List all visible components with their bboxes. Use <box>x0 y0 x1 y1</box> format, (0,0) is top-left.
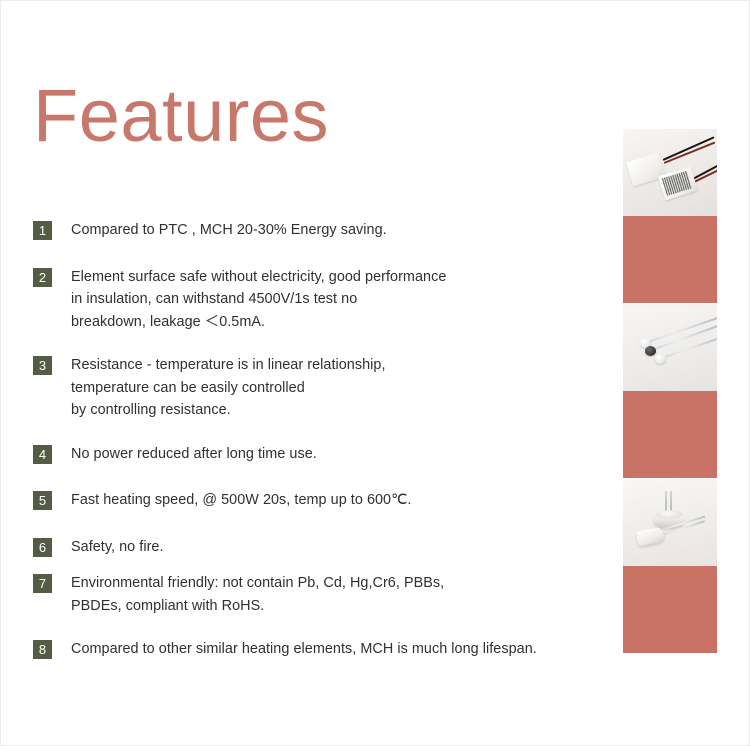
feature-text-6: Safety, no fire. <box>71 536 164 559</box>
feature-list: 1 Compared to PTC , MCH 20-30% Energy sa… <box>33 219 593 679</box>
ceramic-disc-top <box>656 510 682 519</box>
feature-item-4: 4 No power reduced after long time use. <box>33 443 593 466</box>
feature-text-7: Environmental friendly: not contain Pb, … <box>71 572 444 617</box>
strip-color-block-3 <box>623 566 717 653</box>
features-page: Features 1 Compared to PTC , MCH 20-30% … <box>0 0 750 746</box>
feature-badge-1: 1 <box>33 221 52 240</box>
feature-badge-2: 2 <box>33 268 52 287</box>
feature-badge-7: 7 <box>33 574 52 593</box>
ceramic-heating-elements-image <box>623 479 717 566</box>
feature-badge-4: 4 <box>33 445 52 464</box>
photo-backdrop <box>623 304 717 391</box>
feature-badge-6: 6 <box>33 538 52 557</box>
strip-photo-mch-heater-plates <box>623 129 717 216</box>
feature-badge-5: 5 <box>33 491 52 510</box>
feature-text-1: Compared to PTC , MCH 20-30% Energy savi… <box>71 219 387 242</box>
probe-head-dark <box>645 346 656 356</box>
feature-text-2: Element surface safe without electricity… <box>71 266 446 334</box>
mch-ceramic-heater-plates-image <box>623 129 717 216</box>
feature-badge-3: 3 <box>33 356 52 375</box>
feature-item-1: 1 Compared to PTC , MCH 20-30% Energy sa… <box>33 219 593 242</box>
feature-text-8: Compared to other similar heating elemen… <box>71 638 537 661</box>
feature-item-7: 7 Environmental friendly: not contain Pb… <box>33 572 593 617</box>
feature-item-6: 6 Safety, no fire. <box>33 536 593 559</box>
probe-head <box>655 354 666 364</box>
strip-photo-thermistor-probes <box>623 304 717 391</box>
product-image-strip <box>623 129 717 653</box>
strip-photo-ceramic-elements <box>623 479 717 566</box>
feature-item-3: 3 Resistance - temperature is in linear … <box>33 354 593 422</box>
accent-color-block <box>623 566 717 653</box>
feature-item-5: 5 Fast heating speed, @ 500W 20s, temp u… <box>33 489 593 512</box>
page-title: Features <box>33 73 329 159</box>
feature-text-3: Resistance - temperature is in linear re… <box>71 354 386 422</box>
heater-trace-grid <box>662 171 692 196</box>
feature-item-8: 8 Compared to other similar heating elem… <box>33 638 593 661</box>
strip-color-block-2 <box>623 391 717 478</box>
accent-color-block <box>623 391 717 478</box>
feature-item-2: 2 Element surface safe without electrici… <box>33 266 593 334</box>
feature-text-4: No power reduced after long time use. <box>71 443 317 466</box>
thermistor-probes-image <box>623 304 717 391</box>
feature-text-5: Fast heating speed, @ 500W 20s, temp up … <box>71 489 411 512</box>
strip-color-block-1 <box>623 216 717 303</box>
accent-color-block <box>623 216 717 303</box>
feature-badge-8: 8 <box>33 640 52 659</box>
